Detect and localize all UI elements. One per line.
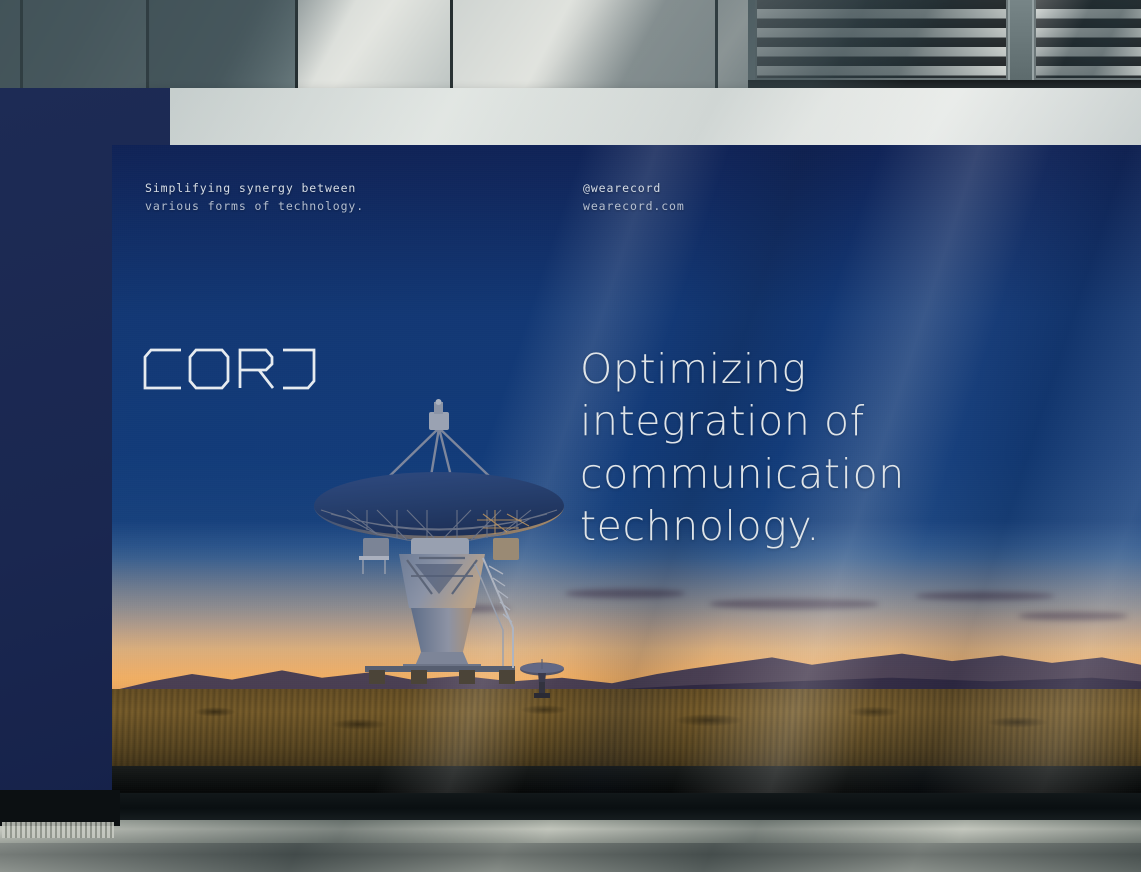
louver-vent-right <box>1034 0 1141 80</box>
pavement-shadow-overlay <box>0 843 1141 872</box>
cloud-2 <box>709 599 879 609</box>
social-handle: @wearecord <box>583 180 685 198</box>
satellite-dish <box>307 398 577 698</box>
floor-grate <box>2 822 114 838</box>
photo-foreground-road <box>112 766 1141 793</box>
wall-seam-vertical-2 <box>146 0 149 88</box>
cloud-5 <box>1018 612 1128 620</box>
billboard-scene: Simplifying synergy between various form… <box>0 0 1141 872</box>
wall-panel-light-3 <box>718 0 748 88</box>
billboard-headline: Optimizing integration of communication … <box>580 343 1050 553</box>
billboard-tagline: Simplifying synergy between various form… <box>145 180 364 216</box>
wall-seam-vertical-4 <box>450 0 453 88</box>
wall-panel-dark-2 <box>150 0 295 88</box>
vent-divider <box>1010 0 1032 80</box>
cord-logo <box>142 345 317 393</box>
wall-seam-vertical-3 <box>295 0 298 88</box>
billboard-contact: @wearecord wearecord.com <box>583 180 685 216</box>
louver-vent-left <box>755 0 1008 80</box>
billboard-base-dark <box>0 790 120 826</box>
tagline-line-2: various forms of technology. <box>145 198 364 216</box>
pavement <box>0 843 1141 872</box>
website-url: wearecord.com <box>583 198 685 216</box>
wall-seam-vertical-5 <box>715 0 718 88</box>
tagline-line-1: Simplifying synergy between <box>145 180 364 198</box>
louver-shade <box>757 0 1006 78</box>
wall-panel-light <box>298 0 450 88</box>
wall-seam-vertical-1 <box>20 0 23 88</box>
louver-shade-2 <box>1036 0 1141 78</box>
cloud-1 <box>565 589 685 598</box>
billboard-artwork[interactable]: Simplifying synergy between various form… <box>112 145 1141 793</box>
wall-panel-light-2 <box>453 0 715 88</box>
